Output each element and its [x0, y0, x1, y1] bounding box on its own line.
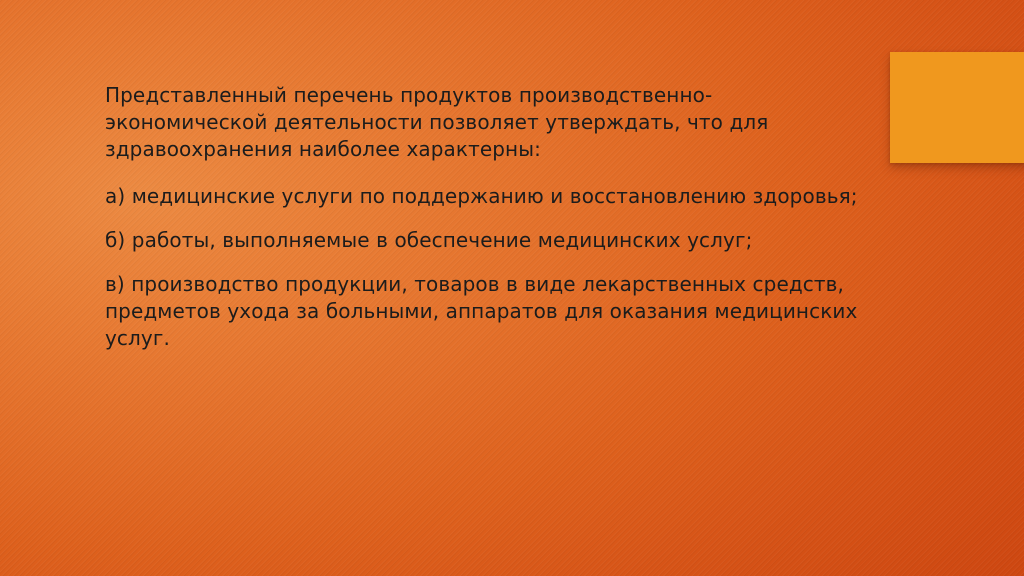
presentation-slide: Представленный перечень продуктов произв… — [0, 0, 1024, 576]
paragraph-item-b: б) работы, выполняемые в обеспечение мед… — [105, 227, 865, 254]
paragraph-item-a: а) медицинские услуги по поддержанию и в… — [105, 183, 865, 210]
paragraph-item-v: в) производство продукции, товаров в вид… — [105, 271, 865, 352]
decorative-accent-rectangle — [890, 52, 1024, 163]
slide-body-text: Представленный перечень продуктов произв… — [105, 82, 865, 352]
paragraph-intro: Представленный перечень продуктов произв… — [105, 82, 865, 163]
